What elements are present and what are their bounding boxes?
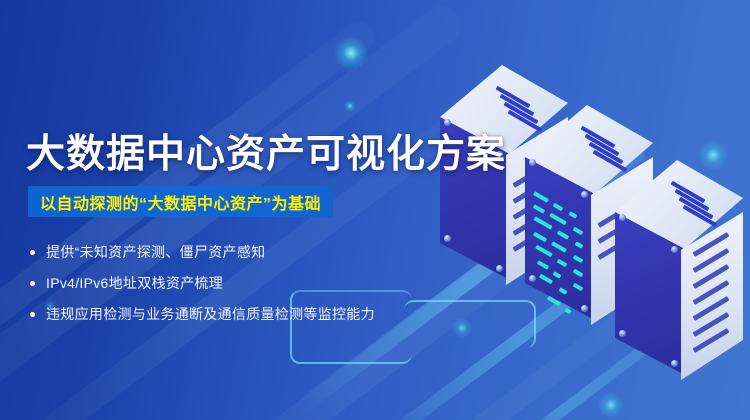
- code-line: [539, 274, 553, 284]
- code-line: [551, 241, 567, 252]
- promo-banner: 大数据中心资产可视化方案 以自动探测的“大数据中心资产”为基础 提供“未知资产探…: [0, 0, 750, 420]
- subtitle-highlight-banner: 以自动探测的“大数据中心资产”为基础: [28, 186, 333, 217]
- code-line: [573, 255, 584, 263]
- code-line: [537, 260, 549, 269]
- list-item: 违规应用检测与业务通断及通信质量检测等监控能力: [30, 300, 450, 328]
- banner-title: 大数据中心资产可视化方案: [26, 123, 506, 179]
- bullet-dot-icon: [30, 281, 35, 286]
- list-item-label: 违规应用检测与业务通断及通信质量检测等监控能力: [46, 304, 375, 324]
- code-line: [553, 203, 564, 211]
- server-racks-illustration: [430, 55, 750, 405]
- code-line: [553, 271, 562, 278]
- code-line: [549, 213, 567, 225]
- panel-screw: [671, 360, 678, 367]
- code-line: [575, 241, 584, 248]
- rack-code-display: [525, 133, 593, 319]
- list-item-label: IPv4/IPv6地址双栈资产梳理: [46, 273, 223, 293]
- list-item-label: 提供“未知资产探测、僵尸资产感知: [46, 242, 265, 262]
- list-item: 提供“未知资产探测、僵尸资产感知: [30, 238, 450, 266]
- panel-screw: [496, 265, 503, 272]
- banner-text-content: 大数据中心资产可视化方案 以自动探测的“大数据中心资产”为基础 提供“未知资产探…: [0, 0, 460, 420]
- code-line: [557, 230, 569, 239]
- code-line: [569, 211, 578, 218]
- code-line: [533, 216, 552, 229]
- code-line: [533, 191, 549, 202]
- code-line: [573, 283, 584, 291]
- code-line: [573, 269, 584, 277]
- panel-screw: [619, 330, 626, 337]
- code-line: [564, 308, 571, 314]
- bullet-dot-icon: [30, 250, 35, 255]
- code-line: [557, 259, 568, 267]
- panel-screw: [671, 246, 678, 253]
- code-line: [559, 287, 568, 294]
- code-line: [533, 232, 547, 242]
- bullet-dot-icon: [30, 312, 35, 317]
- server-rack-right: [615, 160, 750, 410]
- feature-bullet-list: 提供“未知资产探测、僵尸资产感知 IPv4/IPv6地址双栈资产梳理 违规应用检…: [30, 238, 450, 331]
- code-line: [535, 245, 553, 257]
- list-item: IPv4/IPv6地址双栈资产梳理: [30, 269, 450, 297]
- code-line: [573, 227, 584, 235]
- subtitle-text: 以自动探测的“大数据中心资产”为基础: [40, 190, 321, 214]
- panel-screw: [619, 214, 626, 221]
- code-line: [547, 296, 561, 306]
- code-line: [533, 204, 545, 213]
